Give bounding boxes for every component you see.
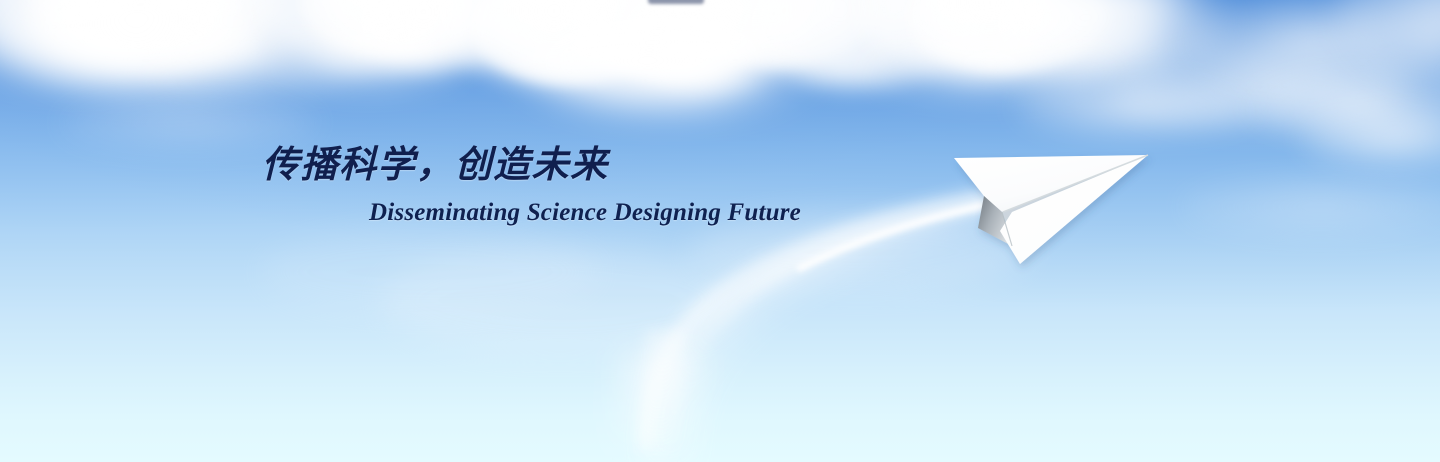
- sky-banner: 传播科学，创造未来 Disseminating Science Designin…: [0, 0, 1440, 462]
- slogan-english: Disseminating Science Designing Future: [0, 198, 900, 228]
- cloud-wisp: [60, 96, 320, 150]
- cloud-puff: [250, 0, 510, 70]
- sky-haze: [0, 0, 1440, 462]
- cloud-wisp: [1180, 176, 1440, 238]
- plane-keel: [978, 196, 1012, 246]
- cloud-wisp: [1016, 78, 1256, 136]
- cloud-puff: [118, 0, 328, 62]
- cloud-puff: [852, 0, 1112, 78]
- cloud-puff: [742, 0, 972, 88]
- cloud-puff: [0, 0, 230, 78]
- cloud-puff: [614, 0, 804, 88]
- cloud-puff: [10, 0, 310, 88]
- plane-wing-near: [1000, 155, 1148, 264]
- cloud-wisp: [1180, 0, 1440, 88]
- cloud-puff: [980, 0, 1230, 80]
- cloud-wisp: [860, 24, 1120, 100]
- cloud-puff: [520, 16, 820, 108]
- cloud-wisp: [1300, 108, 1440, 166]
- cloud-bank: [0, 0, 1440, 462]
- cloud-puff: [430, 0, 680, 84]
- plane-underside: [1002, 155, 1148, 250]
- cloud-wisp: [140, 10, 370, 96]
- cloud-wisp: [1248, 70, 1440, 140]
- cloud-wisp: [1336, 0, 1440, 92]
- top-edge-crop-artifact: [648, 0, 704, 4]
- cloud-puff: [30, 0, 280, 70]
- cloud-wisp: [268, 22, 468, 92]
- cloud-puff: [906, 0, 1106, 72]
- slogan-chinese: 传播科学，创造未来: [0, 144, 900, 188]
- cloud-wisp: [1110, 44, 1410, 130]
- cloud-puff: [470, 0, 670, 84]
- cloud-puff: [560, 0, 780, 80]
- slogan-block: 传播科学，创造未来 Disseminating Science Designin…: [0, 144, 900, 228]
- contrail-swoosh: [0, 0, 1440, 462]
- cloud-puff: [300, 0, 490, 56]
- plane-wing-far: [954, 155, 1148, 212]
- cloud-puff: [668, 0, 878, 68]
- cloud-puff: [352, 0, 522, 70]
- paper-plane-icon: [0, 0, 1440, 462]
